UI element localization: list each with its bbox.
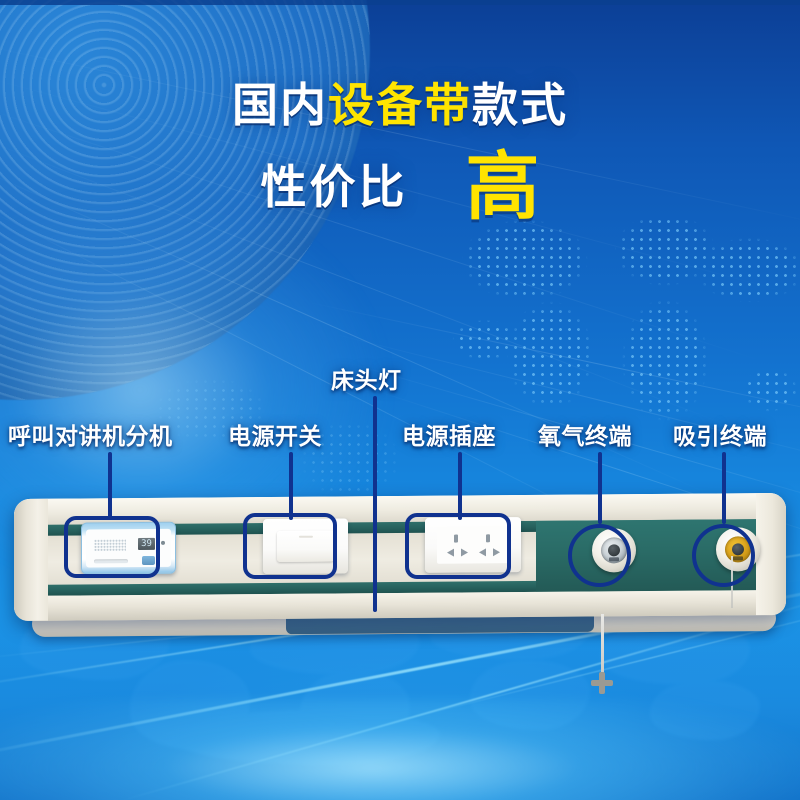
callout-label-suction-outlet: 吸引终端: [673, 417, 767, 451]
promo-banner: 国内设备带款式 性价比 高 呼叫对讲机分机 电源开关 床头灯 电源插座 氧气终端…: [0, 0, 800, 800]
callout-label-intercom: 呼叫对讲机分机: [8, 417, 173, 451]
callout-label-power-socket: 电源插座: [402, 417, 496, 451]
callout-label-bed-lamp: 床头灯: [331, 361, 402, 395]
callout-label-group: 呼叫对讲机分机 电源开关 床头灯 电源插座 氧气终端 吸引终端: [0, 0, 800, 800]
callout-label-oxygen-outlet: 氧气终端: [538, 417, 632, 451]
callout-label-power-switch: 电源开关: [228, 417, 322, 451]
